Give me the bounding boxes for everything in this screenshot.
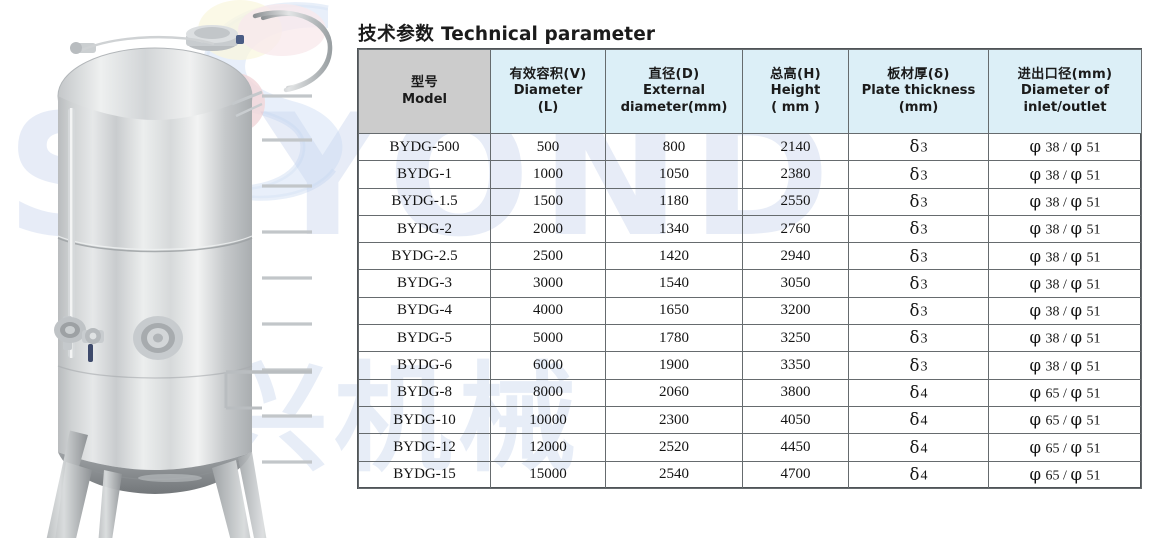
cell-plate-thickness: δ3 — [849, 188, 989, 215]
cell-inlet-outlet: φ 65 / φ 51 — [989, 379, 1142, 406]
delta-symbol: δ — [910, 165, 920, 184]
phi-symbol-inlet: φ — [1029, 410, 1041, 429]
plate-thickness-value: 3 — [920, 359, 927, 374]
inlet-diameter: 65 — [1046, 414, 1060, 429]
cell-height: 4700 — [743, 461, 849, 488]
outlet-diameter: 51 — [1087, 305, 1101, 320]
cell-volume: 1500 — [491, 188, 606, 215]
cell-plate-thickness: δ3 — [849, 243, 989, 270]
cell-model: BYDG-1.5 — [359, 188, 491, 215]
outlet-diameter: 51 — [1087, 387, 1101, 402]
inlet-separator: / — [1063, 359, 1067, 374]
delta-symbol: δ — [910, 301, 920, 320]
delta-symbol: δ — [910, 383, 920, 402]
cell-inlet-outlet: φ 65 / φ 51 — [989, 434, 1142, 461]
inlet-diameter: 38 — [1046, 277, 1060, 292]
inlet-separator: / — [1063, 223, 1067, 238]
phi-symbol-outlet: φ — [1070, 356, 1082, 375]
cell-diameter: 2540 — [606, 461, 743, 488]
column-header-plate-thickness: 板材厚(δ) Plate thickness (mm) — [849, 50, 989, 134]
inlet-separator: / — [1063, 168, 1067, 183]
phi-symbol-inlet: φ — [1029, 356, 1041, 375]
cell-inlet-outlet: φ 38 / φ 51 — [989, 243, 1142, 270]
cell-plate-thickness: δ3 — [849, 270, 989, 297]
column-header-volume: 有效容积(V) Diameter (L) — [491, 50, 606, 134]
panel-title-en: Technical parameter — [441, 24, 655, 45]
panel-title: 技术参数 Technical parameter — [358, 20, 655, 46]
phi-symbol-outlet: φ — [1070, 137, 1082, 156]
phi-symbol-outlet: φ — [1070, 165, 1082, 184]
outlet-diameter: 51 — [1087, 141, 1101, 156]
phi-symbol-inlet: φ — [1029, 383, 1041, 402]
table-row: BYDG-2.5250014202940δ3φ 38 / φ 51 — [359, 243, 1142, 270]
cell-inlet-outlet: φ 38 / φ 51 — [989, 134, 1142, 161]
cell-inlet-outlet: φ 38 / φ 51 — [989, 297, 1142, 324]
cell-diameter: 1540 — [606, 270, 743, 297]
cell-model: BYDG-500 — [359, 134, 491, 161]
cell-diameter: 1340 — [606, 215, 743, 242]
outlet-diameter: 51 — [1087, 250, 1101, 265]
table-row: BYDG-2200013402760δ3φ 38 / φ 51 — [359, 215, 1142, 242]
phi-symbol-inlet: φ — [1029, 274, 1041, 293]
table-header-row: 型号 Model 有效容积(V) Diameter (L) 直径(D) Exte… — [359, 50, 1142, 134]
inlet-diameter: 38 — [1046, 223, 1060, 238]
cell-volume: 1000 — [491, 161, 606, 188]
phi-symbol-outlet: φ — [1070, 274, 1082, 293]
cell-height: 3050 — [743, 270, 849, 297]
cell-model: BYDG-5 — [359, 325, 491, 352]
column-header-height-cjk: 总高(H) — [745, 67, 846, 83]
column-header-model-cjk: 型号 — [361, 75, 488, 91]
inlet-diameter: 65 — [1046, 468, 1060, 483]
inlet-diameter: 38 — [1046, 141, 1060, 156]
column-header-plate-thickness-en2: (mm) — [851, 100, 986, 116]
delta-symbol: δ — [910, 410, 920, 429]
plate-thickness-value: 4 — [920, 441, 927, 456]
cell-volume: 6000 — [491, 352, 606, 379]
cell-diameter: 800 — [606, 134, 743, 161]
tank-manway-icon — [186, 25, 244, 51]
cell-diameter: 1900 — [606, 352, 743, 379]
cell-height: 2760 — [743, 215, 849, 242]
cell-height: 4450 — [743, 434, 849, 461]
cell-model: BYDG-10 — [359, 406, 491, 433]
product-photo — [0, 0, 352, 538]
cell-height: 3250 — [743, 325, 849, 352]
column-header-diameter-en2: diameter(mm) — [608, 100, 740, 116]
column-header-height-en2: ( mm ) — [745, 100, 846, 116]
specification-table-body: BYDG-5005008002140δ3φ 38 / φ 51BYDG-1100… — [359, 134, 1142, 489]
cell-model: BYDG-6 — [359, 352, 491, 379]
inlet-separator: / — [1063, 277, 1067, 292]
delta-symbol: δ — [910, 192, 920, 211]
inlet-diameter: 38 — [1046, 332, 1060, 347]
inlet-separator: / — [1063, 195, 1067, 210]
phi-symbol-inlet: φ — [1029, 219, 1041, 238]
inlet-diameter: 38 — [1046, 359, 1060, 374]
cell-volume: 3000 — [491, 270, 606, 297]
cell-model: BYDG-2.5 — [359, 243, 491, 270]
plate-thickness-value: 3 — [920, 223, 927, 238]
cell-plate-thickness: δ3 — [849, 215, 989, 242]
delta-symbol: δ — [910, 274, 920, 293]
phi-symbol-outlet: φ — [1070, 247, 1082, 266]
tank-top-fitting-icon — [70, 42, 96, 54]
phi-symbol-inlet: φ — [1029, 465, 1041, 484]
cell-diameter: 2060 — [606, 379, 743, 406]
cell-inlet-outlet: φ 38 / φ 51 — [989, 188, 1142, 215]
cell-volume: 2500 — [491, 243, 606, 270]
inlet-separator: / — [1063, 305, 1067, 320]
plate-thickness-value: 3 — [920, 277, 927, 292]
outlet-diameter: 51 — [1087, 277, 1101, 292]
inlet-separator: / — [1063, 250, 1067, 265]
cell-diameter: 1650 — [606, 297, 743, 324]
tank-outlet-flange-icon — [133, 316, 183, 360]
inlet-diameter: 65 — [1046, 441, 1060, 456]
inlet-separator: / — [1063, 468, 1067, 483]
cell-model: BYDG-15 — [359, 461, 491, 488]
inlet-diameter: 65 — [1046, 387, 1060, 402]
column-header-model-en: Model — [361, 92, 488, 108]
cell-height: 3200 — [743, 297, 849, 324]
inlet-separator: / — [1063, 441, 1067, 456]
specification-table: 型号 Model 有效容积(V) Diameter (L) 直径(D) Exte… — [358, 49, 1142, 489]
plate-thickness-value: 3 — [920, 168, 927, 183]
table-row: BYDG-1.5150011802550δ3φ 38 / φ 51 — [359, 188, 1142, 215]
table-row: BYDG-6600019003350δ3φ 38 / φ 51 — [359, 352, 1142, 379]
cell-plate-thickness: δ3 — [849, 297, 989, 324]
column-header-inlet-outlet-en2: inlet/outlet — [991, 100, 1139, 116]
cell-volume: 2000 — [491, 215, 606, 242]
cell-diameter: 1420 — [606, 243, 743, 270]
cell-height: 2380 — [743, 161, 849, 188]
plate-thickness-value: 3 — [920, 195, 927, 210]
column-header-plate-thickness-en1: Plate thickness — [851, 83, 986, 99]
inlet-separator: / — [1063, 332, 1067, 347]
cell-plate-thickness: δ4 — [849, 406, 989, 433]
table-row: BYDG-5500017803250δ3φ 38 / φ 51 — [359, 325, 1142, 352]
phi-symbol-outlet: φ — [1070, 192, 1082, 211]
delta-symbol: δ — [910, 328, 920, 347]
inlet-diameter: 38 — [1046, 195, 1060, 210]
phi-symbol-inlet: φ — [1029, 438, 1041, 457]
outlet-diameter: 51 — [1087, 195, 1101, 210]
tank-side-flange-icon — [54, 317, 86, 343]
column-header-diameter-cjk: 直径(D) — [608, 67, 740, 83]
plate-thickness-value: 3 — [920, 250, 927, 265]
delta-symbol: δ — [910, 465, 920, 484]
outlet-diameter: 51 — [1087, 332, 1101, 347]
column-header-volume-en2: (L) — [493, 100, 603, 116]
phi-symbol-inlet: φ — [1029, 301, 1041, 320]
cell-inlet-outlet: φ 65 / φ 51 — [989, 406, 1142, 433]
plate-thickness-value: 3 — [920, 305, 927, 320]
cell-plate-thickness: δ3 — [849, 161, 989, 188]
column-header-volume-en1: Diameter — [493, 83, 603, 99]
cell-plate-thickness: δ4 — [849, 434, 989, 461]
cell-model: BYDG-1 — [359, 161, 491, 188]
column-header-model: 型号 Model — [359, 50, 491, 134]
cell-volume: 5000 — [491, 325, 606, 352]
cell-height: 2940 — [743, 243, 849, 270]
inlet-separator: / — [1063, 387, 1067, 402]
cell-volume: 4000 — [491, 297, 606, 324]
cell-diameter: 1780 — [606, 325, 743, 352]
inlet-separator: / — [1063, 141, 1067, 156]
plate-thickness-value: 3 — [920, 141, 927, 156]
inlet-separator: / — [1063, 414, 1067, 429]
inlet-diameter: 38 — [1046, 250, 1060, 265]
technical-parameter-panel: 技术参数 Technical parameter 型号 Model 有效容积(V… — [357, 0, 1174, 538]
cell-plate-thickness: δ4 — [849, 461, 989, 488]
phi-symbol-outlet: φ — [1070, 438, 1082, 457]
plate-thickness-value: 4 — [920, 387, 927, 402]
cell-model: BYDG-8 — [359, 379, 491, 406]
table-row: BYDG-121200025204450δ4φ 65 / φ 51 — [359, 434, 1142, 461]
cell-diameter: 1180 — [606, 188, 743, 215]
table-row: BYDG-101000023004050δ4φ 65 / φ 51 — [359, 406, 1142, 433]
storage-tank-illustration — [0, 0, 352, 538]
outlet-diameter: 51 — [1087, 468, 1101, 483]
phi-symbol-outlet: φ — [1070, 301, 1082, 320]
inlet-diameter: 38 — [1046, 168, 1060, 183]
plate-thickness-value: 3 — [920, 332, 927, 347]
delta-symbol: δ — [910, 219, 920, 238]
cell-plate-thickness: δ3 — [849, 352, 989, 379]
plate-thickness-value: 4 — [920, 414, 927, 429]
phi-symbol-inlet: φ — [1029, 165, 1041, 184]
delta-symbol: δ — [910, 247, 920, 266]
cell-model: BYDG-3 — [359, 270, 491, 297]
table-row: BYDG-3300015403050δ3φ 38 / φ 51 — [359, 270, 1142, 297]
cell-inlet-outlet: φ 38 / φ 51 — [989, 270, 1142, 297]
phi-symbol-outlet: φ — [1070, 410, 1082, 429]
outlet-diameter: 51 — [1087, 359, 1101, 374]
cell-volume: 500 — [491, 134, 606, 161]
column-header-inlet-outlet-en1: Diameter of — [991, 83, 1139, 99]
delta-symbol: δ — [910, 356, 920, 375]
column-header-plate-thickness-cjk: 板材厚(δ) — [851, 67, 986, 83]
table-row: BYDG-151500025404700δ4φ 65 / φ 51 — [359, 461, 1142, 488]
cell-volume: 8000 — [491, 379, 606, 406]
cell-height: 2550 — [743, 188, 849, 215]
delta-symbol: δ — [910, 137, 920, 156]
outlet-diameter: 51 — [1087, 414, 1101, 429]
plate-thickness-value: 4 — [920, 468, 927, 483]
cell-volume: 12000 — [491, 434, 606, 461]
cell-inlet-outlet: φ 38 / φ 51 — [989, 161, 1142, 188]
phi-symbol-inlet: φ — [1029, 192, 1041, 211]
cell-diameter: 2300 — [606, 406, 743, 433]
phi-symbol-inlet: φ — [1029, 137, 1041, 156]
table-row: BYDG-8800020603800δ4φ 65 / φ 51 — [359, 379, 1142, 406]
cell-model: BYDG-4 — [359, 297, 491, 324]
cell-diameter: 1050 — [606, 161, 743, 188]
cell-height: 3800 — [743, 379, 849, 406]
phi-symbol-outlet: φ — [1070, 465, 1082, 484]
outlet-diameter: 51 — [1087, 441, 1101, 456]
table-row: BYDG-1100010502380δ3φ 38 / φ 51 — [359, 161, 1142, 188]
inlet-diameter: 38 — [1046, 305, 1060, 320]
table-row: BYDG-4400016503200δ3φ 38 / φ 51 — [359, 297, 1142, 324]
cell-height: 4050 — [743, 406, 849, 433]
cell-inlet-outlet: φ 38 / φ 51 — [989, 215, 1142, 242]
cell-height: 3350 — [743, 352, 849, 379]
column-header-diameter: 直径(D) External diameter(mm) — [606, 50, 743, 134]
column-header-inlet-outlet: 进出口径(mm) Diameter of inlet/outlet — [989, 50, 1142, 134]
cell-volume: 10000 — [491, 406, 606, 433]
phi-symbol-outlet: φ — [1070, 219, 1082, 238]
cell-height: 2140 — [743, 134, 849, 161]
column-header-inlet-outlet-cjk: 进出口径(mm) — [991, 67, 1139, 83]
column-header-diameter-en1: External — [608, 83, 740, 99]
column-header-volume-cjk: 有效容积(V) — [493, 67, 603, 83]
phi-symbol-outlet: φ — [1070, 383, 1082, 402]
cell-plate-thickness: δ4 — [849, 379, 989, 406]
cell-inlet-outlet: φ 65 / φ 51 — [989, 461, 1142, 488]
cell-inlet-outlet: φ 38 / φ 51 — [989, 325, 1142, 352]
cell-diameter: 2520 — [606, 434, 743, 461]
cell-plate-thickness: δ3 — [849, 134, 989, 161]
table-row: BYDG-5005008002140δ3φ 38 / φ 51 — [359, 134, 1142, 161]
phi-symbol-inlet: φ — [1029, 247, 1041, 266]
cell-model: BYDG-12 — [359, 434, 491, 461]
cell-volume: 15000 — [491, 461, 606, 488]
panel-title-cjk: 技术参数 — [358, 24, 434, 45]
cell-inlet-outlet: φ 38 / φ 51 — [989, 352, 1142, 379]
column-header-height: 总高(H) Height ( mm ) — [743, 50, 849, 134]
spec-sheet-page: SEYOND 永兴机械 — [0, 0, 1174, 538]
phi-symbol-inlet: φ — [1029, 328, 1041, 347]
phi-symbol-outlet: φ — [1070, 328, 1082, 347]
column-header-height-en1: Height — [745, 83, 846, 99]
outlet-diameter: 51 — [1087, 223, 1101, 238]
cell-plate-thickness: δ3 — [849, 325, 989, 352]
outlet-diameter: 51 — [1087, 168, 1101, 183]
cell-model: BYDG-2 — [359, 215, 491, 242]
delta-symbol: δ — [910, 438, 920, 457]
